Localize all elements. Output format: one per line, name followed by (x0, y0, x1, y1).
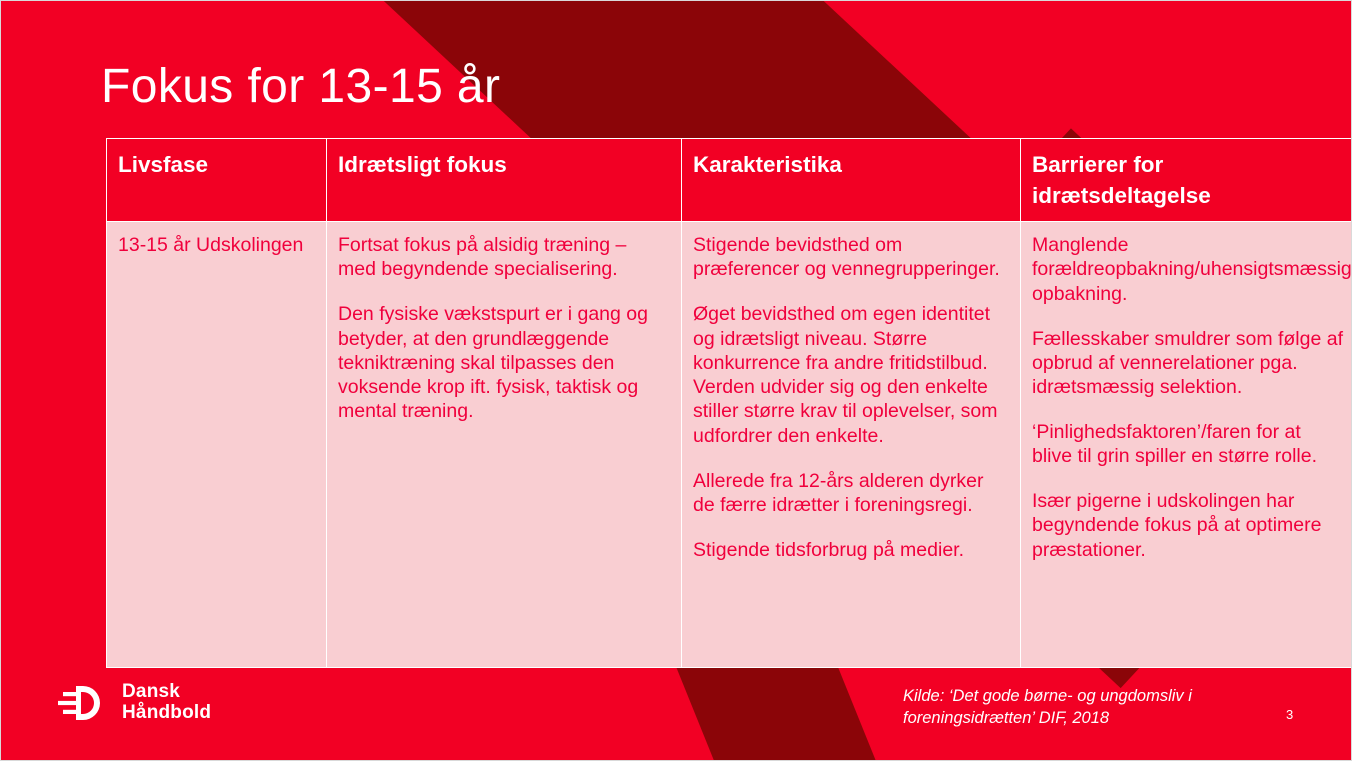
column-header-barrierer: Barrierer for idrætsdeltagelse (1021, 139, 1352, 222)
table-header-row: Livsfase Idrætsligt fokus Karakteristika… (107, 139, 1352, 222)
table-header-row-group: Livsfase Idrætsligt fokus Karakteristika… (107, 139, 1352, 222)
cell-paragraph: Øget bevidsthed om egen identitet og idr… (693, 302, 1008, 448)
logo-wordmark: Dansk Håndbold (122, 682, 211, 723)
cell-paragraph: Især pigerne i udskolingen har begyndend… (1032, 489, 1343, 562)
cell-paragraph: ‘Pinlighedsfaktoren’/faren for at blive … (1032, 420, 1343, 469)
handball-d-icon (57, 683, 109, 723)
focus-table: Livsfase Idrætsligt fokus Karakteristika… (106, 138, 1352, 668)
table-row: 13-15 år Udskolingen Fortsat fokus på al… (107, 222, 1352, 668)
source-text: ‘Det gode børne- og ungdomsliv i forenin… (903, 687, 1192, 727)
cell-paragraph: Manglende forældreopbakning/uhensigtsmæs… (1032, 233, 1343, 306)
table-body: 13-15 år Udskolingen Fortsat fokus på al… (107, 222, 1352, 668)
page-number: 3 (1286, 707, 1293, 722)
cell-paragraph: Fortsat fokus på alsidig træning – med b… (338, 233, 669, 282)
dansk-haandbold-logo: Dansk Håndbold (57, 682, 211, 723)
source-citation: Kilde: ‘Det gode børne- og ungdomsliv i … (903, 685, 1233, 730)
column-header-idraetsligt-fokus: Idrætsligt fokus (327, 139, 682, 222)
cell-paragraph: Stigende bevidsthed om præferencer og ve… (693, 233, 1008, 282)
cell-idraetsligt-fokus: Fortsat fokus på alsidig træning – med b… (327, 222, 682, 668)
logo-line-1: Dansk (122, 681, 180, 702)
cell-karakteristika: Stigende bevidsthed om præferencer og ve… (682, 222, 1021, 668)
slide-canvas: Fokus for 13-15 år Livsfase Idrætsligt f… (0, 0, 1352, 761)
source-label: Kilde: (903, 687, 944, 705)
cell-barrierer: Manglende forældreopbakning/uhensigtsmæs… (1021, 222, 1352, 668)
column-header-livsfase: Livsfase (107, 139, 327, 222)
cell-paragraph: Den fysiske vækstspurt er i gang og bety… (338, 302, 669, 423)
page-title: Fokus for 13-15 år (101, 59, 500, 116)
focus-table-container: Livsfase Idrætsligt fokus Karakteristika… (106, 138, 1263, 668)
column-header-karakteristika: Karakteristika (682, 139, 1021, 222)
cell-paragraph: Fællesskaber smuldrer som følge af opbru… (1032, 327, 1343, 400)
cell-paragraph: 13-15 år Udskolingen (118, 233, 314, 257)
cell-paragraph: Allerede fra 12-års alderen dyrker de fæ… (693, 469, 1008, 518)
cell-paragraph: Stigende tidsforbrug på medier. (693, 538, 1008, 562)
logo-line-2: Håndbold (122, 702, 211, 723)
cell-livsfase: 13-15 år Udskolingen (107, 222, 327, 668)
